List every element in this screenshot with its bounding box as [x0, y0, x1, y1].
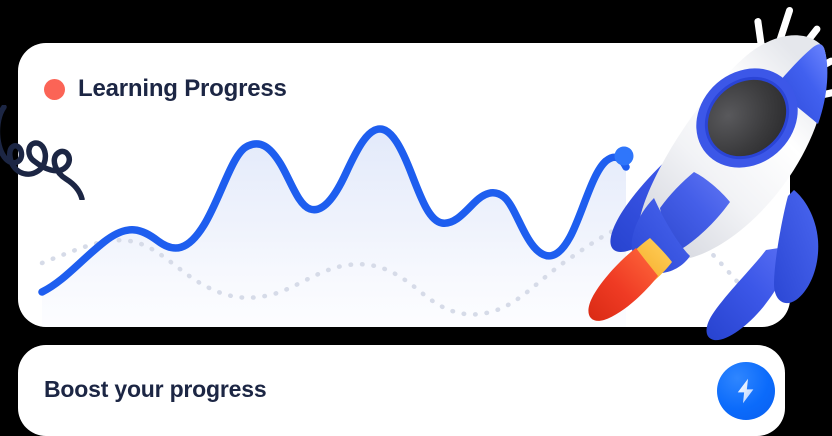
boost-title: Boost your progress: [44, 376, 266, 403]
action-button-halo: [708, 353, 783, 428]
lightning-bolt-icon: [731, 376, 761, 406]
page-title: Learning Progress: [78, 75, 287, 103]
progress-card-header: Learning Progress: [44, 75, 287, 103]
status-dot-icon: [44, 79, 65, 100]
screen-root: Learning Progress Boost your progress: [0, 0, 832, 436]
boost-progress-card: Boost your progress: [18, 345, 785, 436]
boost-action-button[interactable]: [717, 362, 775, 420]
learning-progress-card: Learning Progress: [18, 43, 790, 327]
chart-endpoint-marker[interactable]: [615, 147, 634, 166]
